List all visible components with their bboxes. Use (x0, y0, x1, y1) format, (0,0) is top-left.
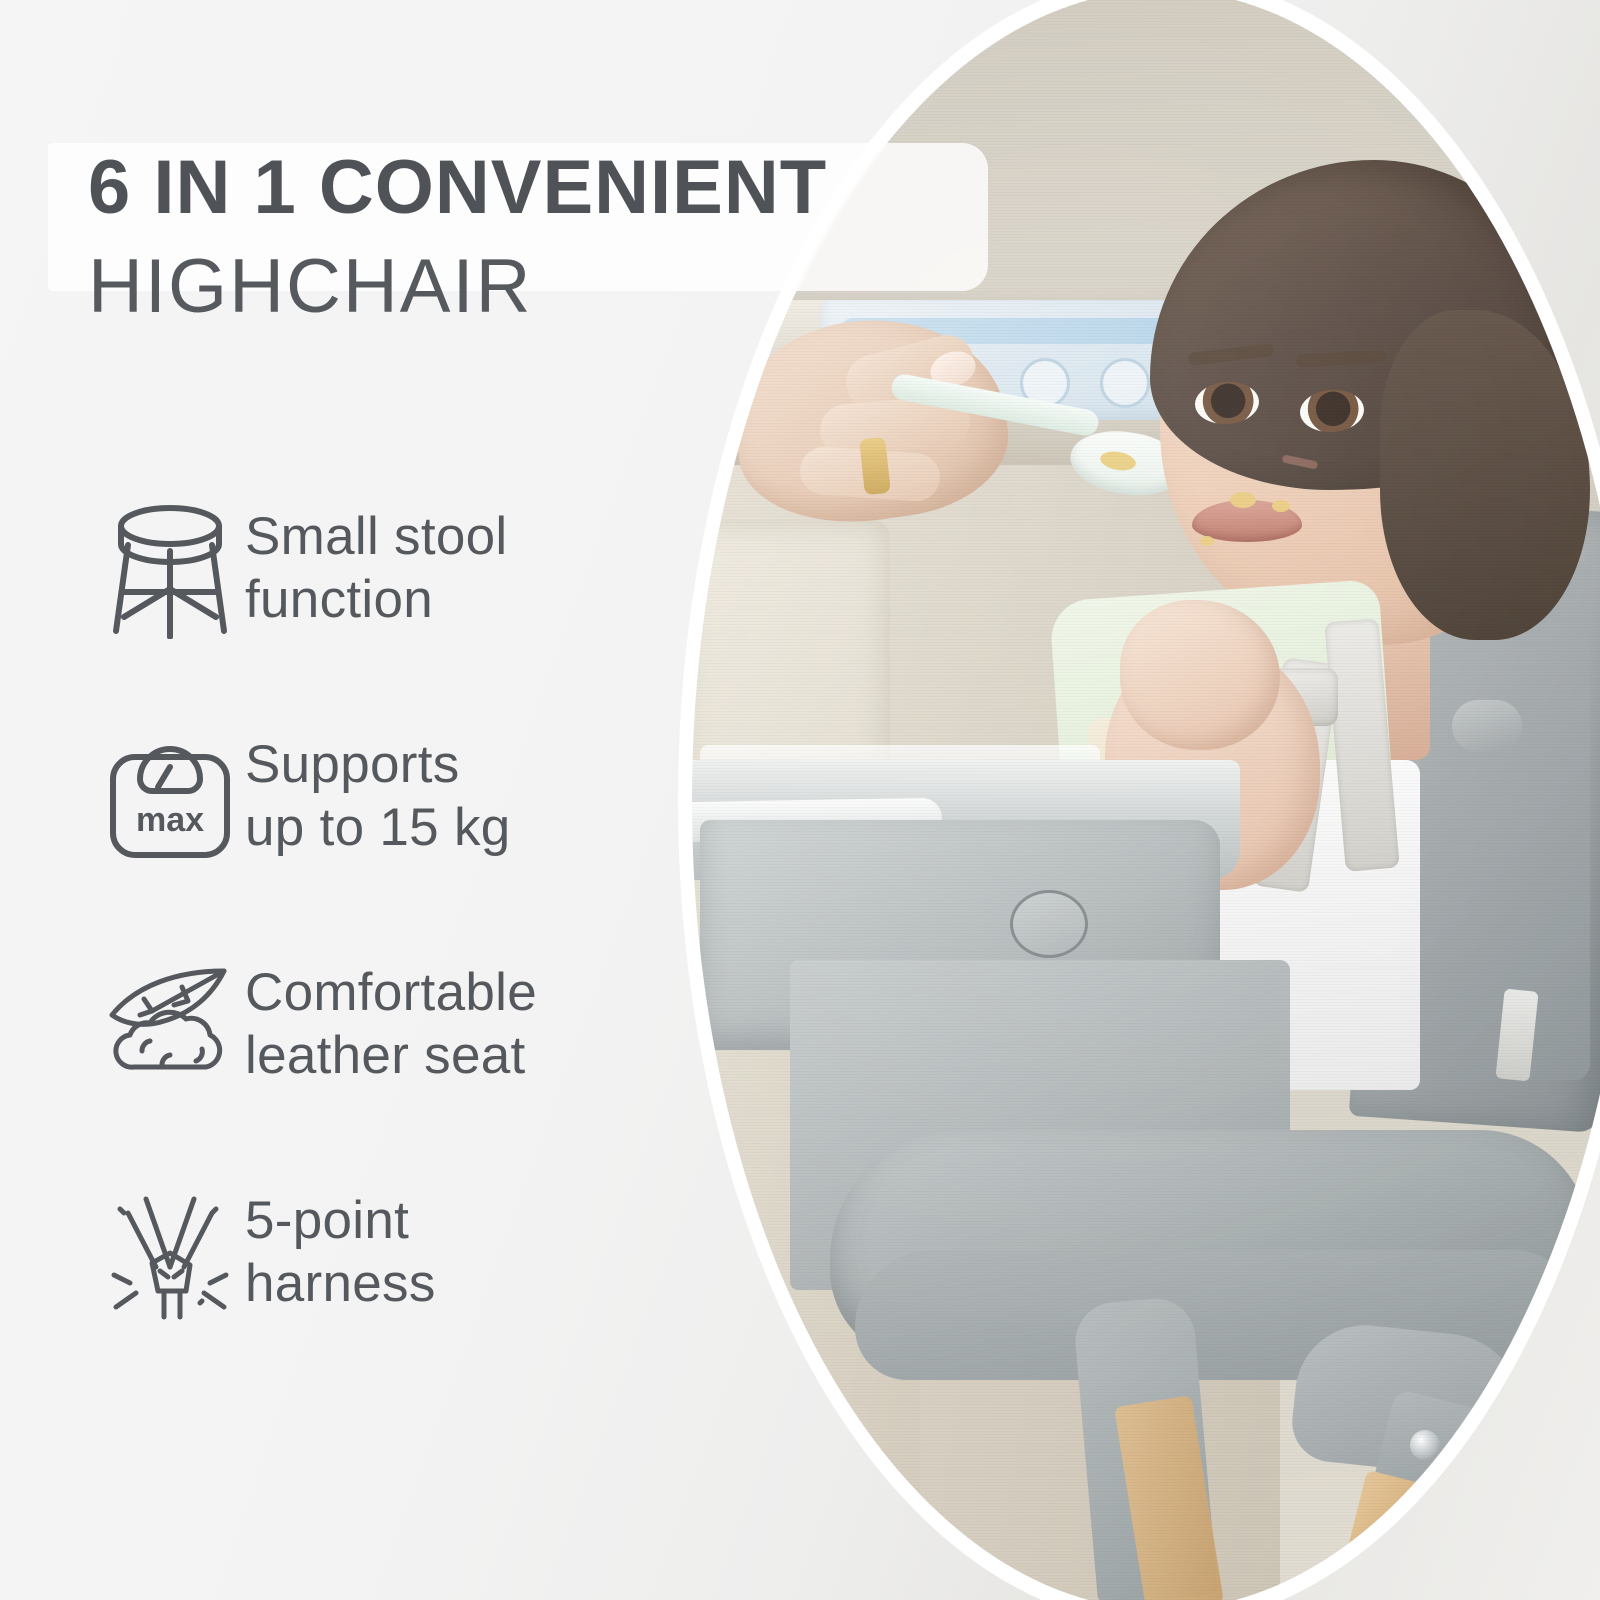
page-title: 6 IN 1 CONVENIENT HIGHCHAIR (88, 150, 1048, 329)
feature-list: Small stool function max Supports up to … (95, 455, 735, 1367)
feature-label: Comfortable leather seat (245, 962, 537, 1087)
feather-cloud-icon (95, 965, 245, 1085)
feature-item-harness: 5-point harness (95, 1139, 735, 1367)
infographic-canvas: 6 IN 1 CONVENIENT HIGHCHAIR Small stool … (0, 0, 1600, 1600)
title-line-2: HIGHCHAIR (88, 244, 1048, 329)
harness-buckle-icon (95, 1183, 245, 1323)
feature-item-comfortable-seat: Comfortable leather seat (95, 911, 735, 1139)
feature-item-max-weight: max Supports up to 15 kg (95, 683, 735, 911)
max-weight-scale-icon: max (95, 731, 245, 863)
max-icon-text: max (136, 801, 204, 839)
feature-label: Small stool function (245, 506, 508, 631)
feature-label: Supports up to 15 kg (245, 734, 511, 859)
feature-label: 5-point harness (245, 1190, 436, 1315)
title-line-1: 6 IN 1 CONVENIENT (88, 150, 1048, 226)
stool-icon (95, 499, 245, 639)
feature-item-small-stool: Small stool function (95, 455, 735, 683)
